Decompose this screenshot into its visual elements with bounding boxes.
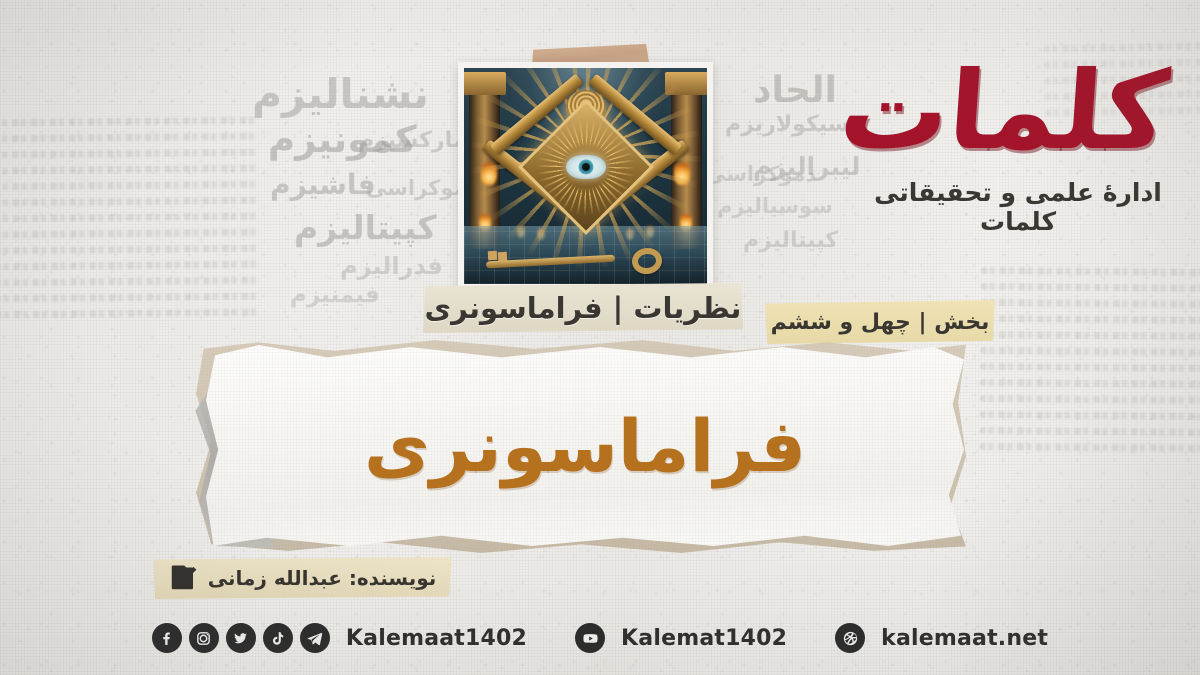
youtube-handle: Kalemat1402: [621, 626, 787, 651]
telegram-icon[interactable]: [300, 623, 330, 653]
all-seeing-eye-icon: [566, 155, 606, 179]
facebook-icon[interactable]: [152, 623, 182, 653]
tiktok-icon[interactable]: [263, 623, 293, 653]
author-banner: نویسنده: عبدالله زمانی: [152, 557, 452, 599]
word-cloud-term: سوسیالیزم: [717, 194, 833, 218]
category-banner-label: نظریات | فراماسونری: [425, 291, 742, 325]
youtube-icon[interactable]: [575, 623, 605, 653]
twitter-icon[interactable]: [226, 623, 256, 653]
torn-paper-hero: فراماسونری: [206, 343, 964, 548]
background-script-watermark-left: [0, 117, 260, 319]
word-cloud-term: نشنالیزم: [252, 70, 429, 118]
globe-icon[interactable]: [835, 623, 865, 653]
document-pencil-icon: [168, 563, 198, 593]
word-cloud-term: دموکراسی: [705, 162, 816, 186]
instagram-icon[interactable]: [189, 623, 219, 653]
social-icon-group: [152, 623, 330, 653]
social-footer: Kalemaat1402 Kalemat1402 kalemaat.net: [0, 623, 1200, 653]
background-script-watermark-right: [979, 267, 1200, 452]
brand-tagline: ادارهٔ علمی و تحقیقاتی کلمات: [868, 178, 1168, 236]
page-title: فراماسونری: [364, 404, 806, 488]
word-cloud-term: فاشیزم: [270, 168, 376, 201]
author-label: نویسنده: عبدالله زمانی: [208, 566, 437, 590]
section-banner: بخش | چهل و ششم: [765, 300, 995, 344]
section-banner-label: بخش | چهل و ششم: [771, 310, 990, 335]
golden-key-icon: [486, 249, 666, 273]
word-cloud-term: سیکولاریزم: [725, 112, 849, 137]
hero-image-frame: [458, 62, 713, 290]
word-cloud-term: کپیتالیزم: [294, 208, 437, 247]
word-cloud-term: الحاد: [753, 70, 837, 111]
masonic-square-compass-all-seeing-eye-image: [464, 68, 707, 284]
category-banner: نظریات | فراماسونری: [423, 283, 743, 333]
social-handle: Kalemaat1402: [346, 626, 527, 651]
poster-canvas: نشنالیزمکمونیزممارکسیزمدموکراسیفاشیزمکپی…: [0, 0, 1200, 675]
word-cloud-term: فدرالیزم: [340, 252, 443, 280]
website-label: kalemaat.net: [881, 626, 1048, 651]
word-cloud-term: کمونیزم: [268, 118, 417, 161]
word-cloud-left: نشنالیزمکمونیزممارکسیزمدموکراسیفاشیزمکپی…: [240, 70, 490, 320]
brand-logo-block: كلمات ادارهٔ علمی و تحقیقاتی کلمات: [868, 58, 1168, 236]
word-cloud-term: کپیتالیزم: [743, 228, 838, 253]
word-cloud-term: مارکسیزم: [358, 128, 467, 153]
word-cloud-term: فیمنیزم: [290, 282, 380, 308]
brand-logo-mark: كلمات: [836, 58, 1172, 166]
